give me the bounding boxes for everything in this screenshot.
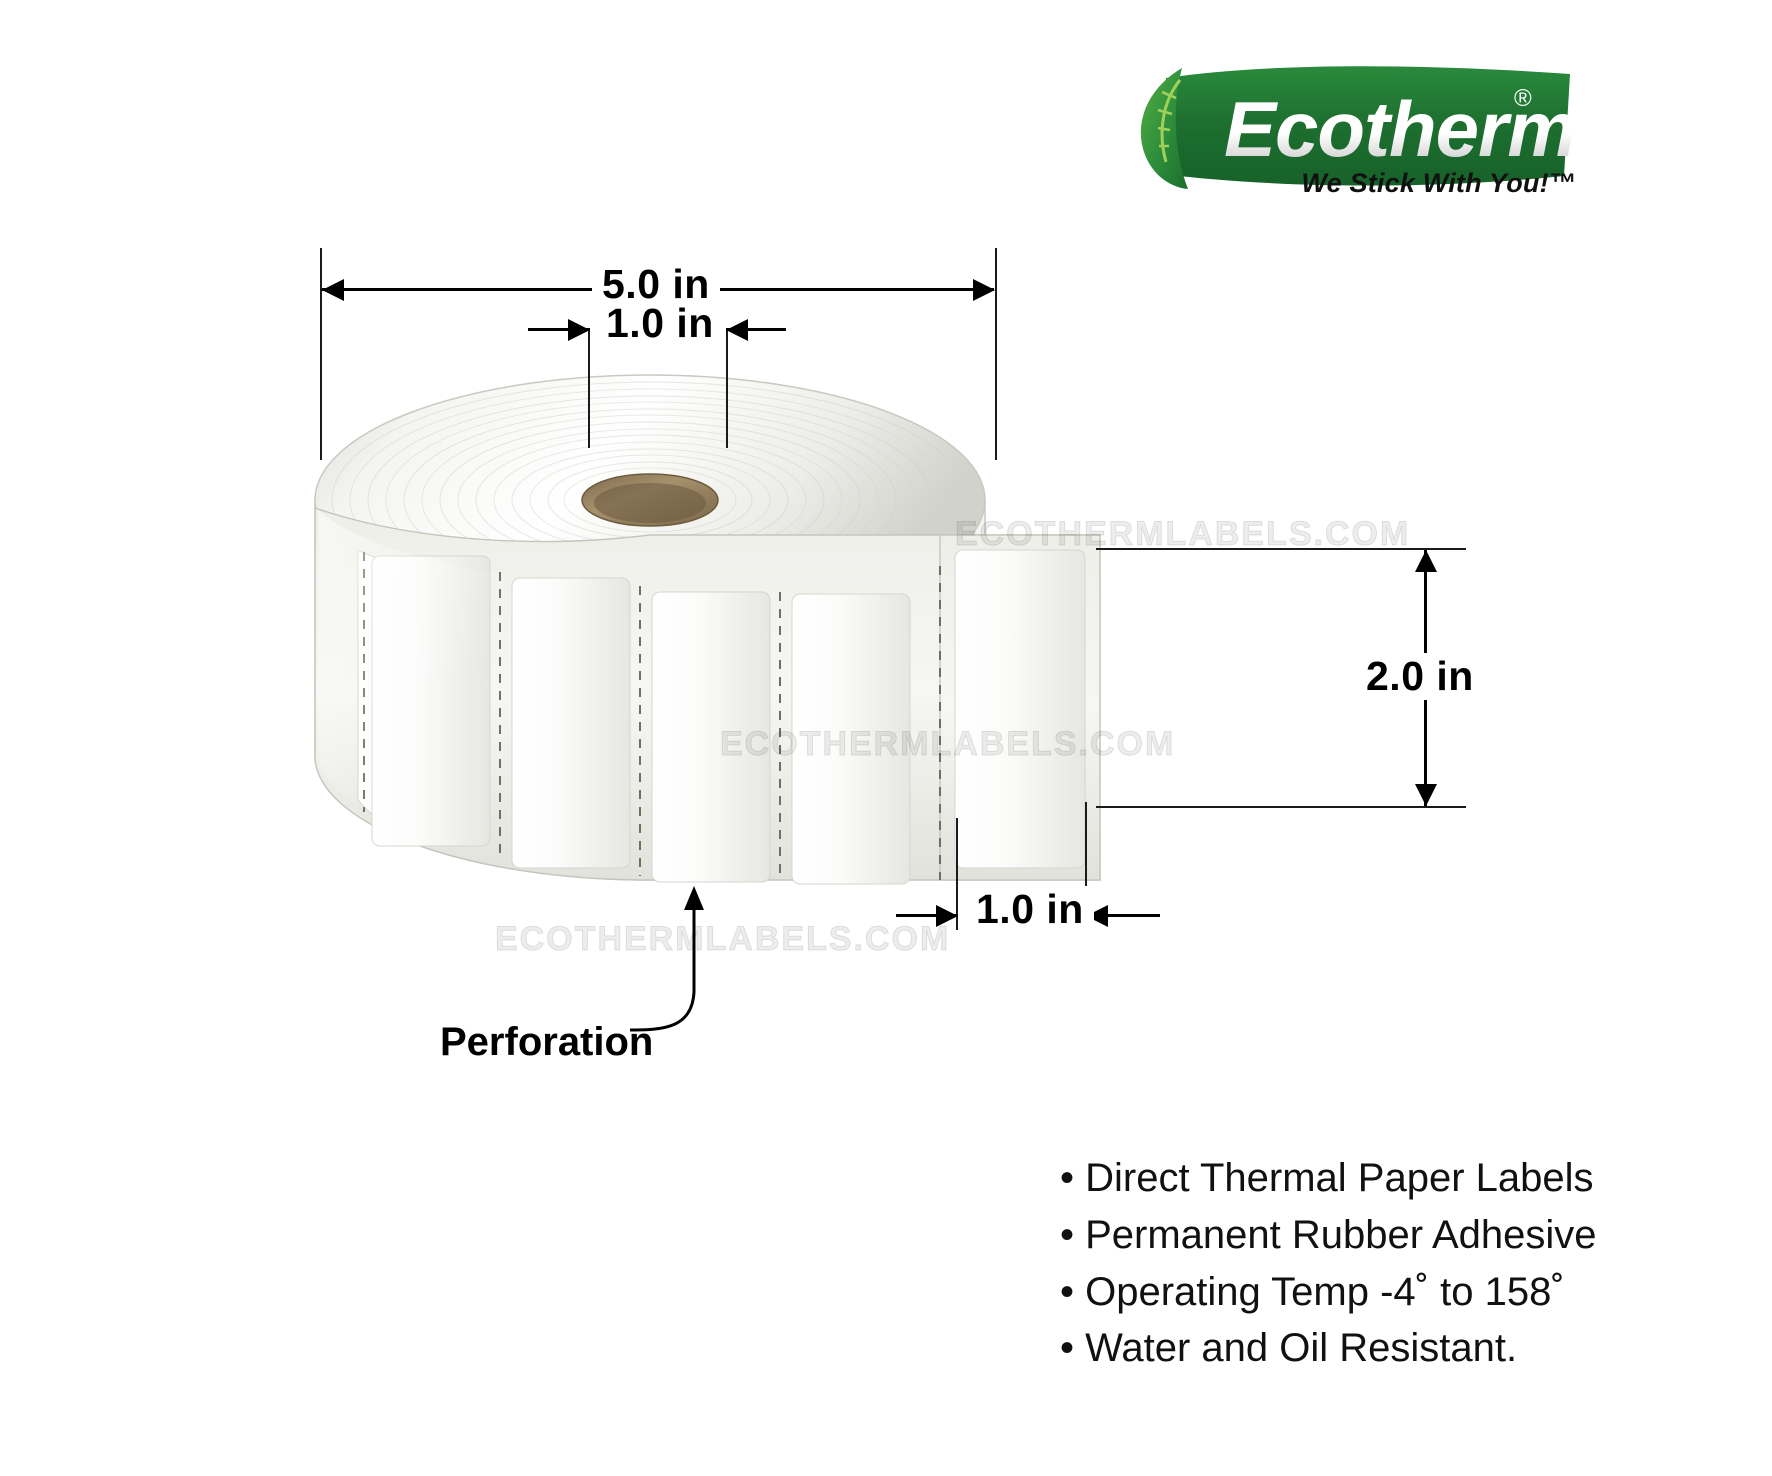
arrow-up-icon — [1415, 550, 1437, 572]
ext-line-left — [588, 330, 590, 448]
dimension-label-height: 2.0 in — [1356, 653, 1484, 700]
ext-line-right — [726, 330, 728, 448]
dimension-label-width: 1.0 in — [966, 886, 1094, 933]
feature-item: • Water and Oil Resistant. — [1060, 1320, 1720, 1377]
ext-line-right — [995, 248, 997, 460]
feature-list: • Direct Thermal Paper Labels • Permanen… — [1060, 1150, 1720, 1377]
label-roll-illustration — [300, 360, 1300, 920]
callout-label-perforation: Perforation — [440, 1020, 653, 1065]
feature-item: • Permanent Rubber Adhesive — [1060, 1207, 1720, 1264]
arrow-up-icon — [684, 886, 704, 910]
feature-item: • Direct Thermal Paper Labels — [1060, 1150, 1720, 1207]
product-diagram-canvas: Ecotherm ® We Stick With You!™ — [0, 0, 1772, 1476]
ext-line-top — [1096, 548, 1466, 550]
ext-line-bottom — [1096, 806, 1466, 808]
logo-tagline: We Stick With You!™ — [1096, 168, 1590, 199]
arrow-left-icon — [726, 319, 748, 341]
arrow-right-icon — [568, 319, 590, 341]
feature-item: • Operating Temp -4˚ to 158˚ — [1060, 1264, 1720, 1321]
arrow-down-icon — [1415, 784, 1437, 806]
registered-mark-icon: ® — [1514, 85, 1532, 112]
arrow-right-icon — [936, 905, 958, 927]
roll-core-inner — [594, 483, 706, 523]
dimension-label-core-diameter: 1.0 in — [596, 300, 724, 347]
arrow-right-icon — [973, 279, 995, 301]
arrow-left-icon — [322, 279, 344, 301]
